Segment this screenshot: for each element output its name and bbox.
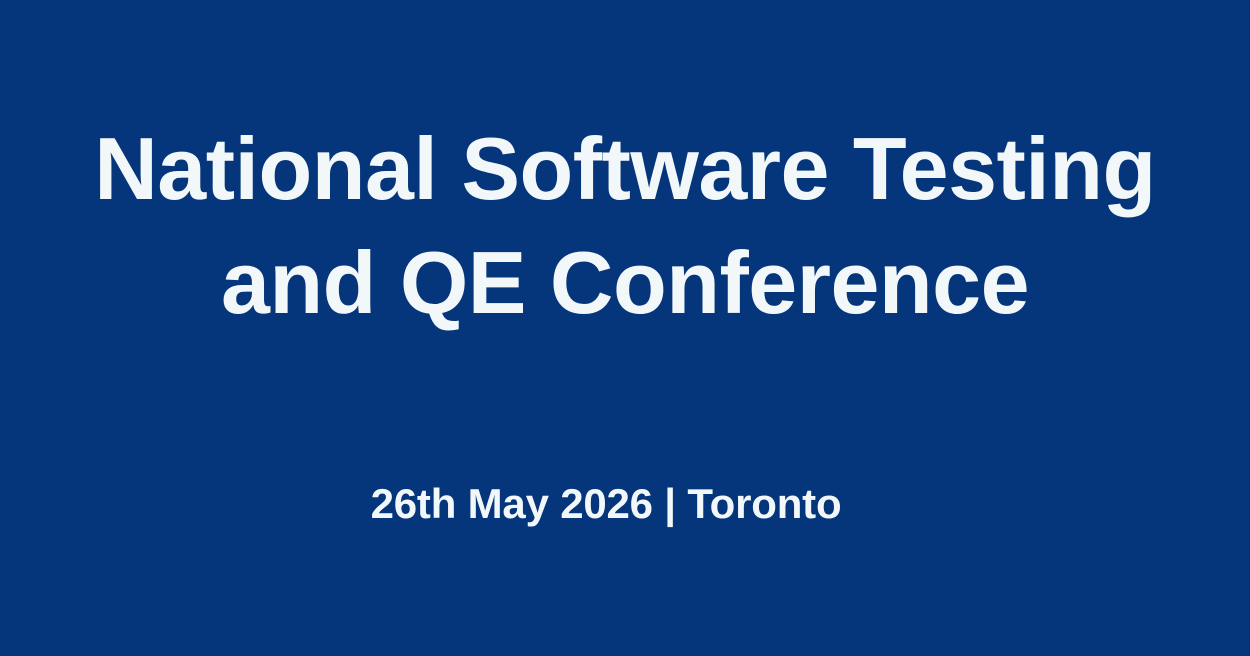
subtitle-block: 26th May 2026 | Toronto	[0, 478, 1250, 530]
event-title-slide: National Software Testing and QE Confere…	[0, 0, 1250, 656]
event-date-location: 26th May 2026 | Toronto	[371, 478, 842, 530]
title-block: National Software Testing and QE Confere…	[0, 112, 1250, 340]
page-title: National Software Testing and QE Confere…	[40, 112, 1210, 340]
